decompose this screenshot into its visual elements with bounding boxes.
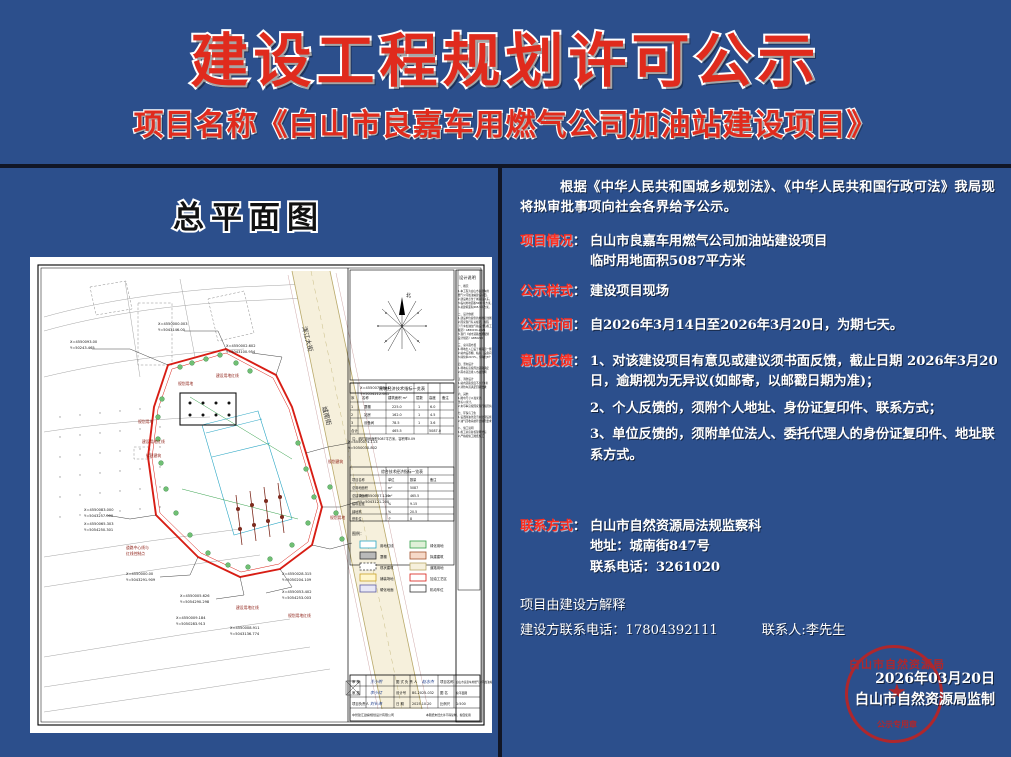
feedback-item-3: 3、单位反馈的，须附单位法人、委托代理人的身份证复印件、地址联系方式。 — [590, 425, 1006, 466]
svg-text:465.5: 465.5 — [410, 494, 419, 498]
svg-text:停车位: 停车位 — [352, 516, 362, 521]
field-value-notice-format: 建设项目现场 — [590, 282, 1006, 302]
svg-text:项目名称: 项目名称 — [352, 477, 366, 482]
svg-text:本图纸未经允许不得复制、擅自使用: 本图纸未经允许不得复制、擅自使用 — [426, 713, 471, 717]
field-colon-1: ： — [573, 282, 590, 302]
svg-text:罩棚: 罩棚 — [364, 404, 371, 409]
svg-text:拟建建筑: 拟建建筑 — [430, 554, 444, 559]
svg-text:铺装场地: 铺装场地 — [380, 576, 394, 581]
svg-text:建设用地红线: 建设用地红线 — [216, 373, 239, 378]
svg-text:Y=5050204.109: Y=5050204.109 — [282, 578, 312, 582]
svg-text:1: 1 — [351, 405, 353, 409]
svg-text:X=4550093.00: X=4550093.00 — [70, 340, 98, 344]
svg-text:BS-2025-032: BS-2025-032 — [412, 691, 434, 695]
svg-text:合计: 合计 — [351, 428, 358, 433]
svg-text:Y=5043146.00: Y=5043146.00 — [158, 328, 186, 332]
feedback-item-1: 1、对该建设项目有意见或建议须书面反馈，截止日期 2026年3月20日，逾期视为… — [590, 352, 1006, 393]
svg-text:五、消防设计: 五、消防设计 — [458, 377, 474, 381]
field-colon-3: ： — [573, 352, 590, 466]
svg-text:2.建设地点位于城南街以东。: 2.建设地点位于城南街以东。 — [458, 297, 492, 301]
project-situation-line-1: 白山市良嘉车用燃气公司加油站建设项目 — [590, 232, 1006, 252]
field-value-feedback: 1、对该建设项目有意见或建议须书面反馈，截止日期 2026年3月20日，逾期视为… — [590, 352, 1006, 466]
field-value-project-situation: 白山市良嘉车用燃气公司加油站建设项目 临时用地面积5087平方米 — [590, 232, 1006, 273]
svg-text:20.5: 20.5 — [410, 510, 417, 514]
explain-note: 项目由建设方解释 — [520, 596, 1006, 616]
svg-text:1:500: 1:500 — [456, 702, 466, 706]
svg-text:白山市良嘉车用燃气公司加油站建设项目: 白山市良嘉车用燃气公司加油站建设项目 — [456, 680, 492, 684]
svg-text:X=4550000.00: X=4550000.00 — [126, 572, 154, 576]
svg-text:八、施工说明: 八、施工说明 — [458, 426, 474, 430]
issuer-block: 2026年03月20日 白山市自然资源局监制 — [855, 669, 995, 711]
svg-text:备注: 备注 — [442, 395, 449, 400]
svg-text:4.5: 4.5 — [430, 413, 435, 417]
field-notice-format: 公示样式 ： 建设项目现场 — [520, 282, 1006, 302]
svg-text:李小红: 李小红 — [370, 690, 383, 695]
svg-text:备注: 备注 — [430, 477, 437, 482]
svg-text:审 核: 审 核 — [352, 679, 360, 684]
svg-text:规范》GB50156-2021: 规范》GB50156-2021 — [458, 328, 486, 332]
cad-drawing-svg: 浑江大街 城南街 — [30, 257, 492, 733]
svg-text:规划用地红线: 规划用地红线 — [288, 613, 311, 618]
svg-text:硬化地面: 硬化地面 — [380, 587, 394, 592]
contact-address: 地址：城南街847号 — [590, 537, 1006, 557]
svg-text:m²: m² — [388, 494, 393, 498]
svg-text:规划用地: 规划用地 — [178, 381, 193, 386]
svg-text:红线控制点: 红线控制点 — [126, 551, 145, 556]
svg-text:X=4550002.602: X=4550002.602 — [226, 344, 255, 348]
feedback-item-2: 2、个人反馈的，须附个人地址、身份证复印件、联系方式； — [590, 399, 1006, 419]
svg-text:2.严格按施工图纸施工: 2.严格按施工图纸施工 — [458, 434, 484, 438]
svg-text:道路用地: 道路用地 — [430, 565, 444, 570]
svg-text:二、设计依据: 二、设计依据 — [458, 312, 474, 316]
svg-text:3.临时用地面积5087平方米。: 3.临时用地面积5087平方米。 — [458, 301, 492, 305]
svg-text:建筑面积 m²: 建筑面积 m² — [388, 395, 408, 400]
svg-text:X=4550000.003: X=4550000.003 — [158, 322, 187, 326]
svg-text:X=4550083.000: X=4550083.000 — [84, 508, 114, 512]
svg-text:X=4550009.184: X=4550009.184 — [176, 616, 206, 620]
svg-text:总用地面积: 总用地面积 — [352, 485, 369, 490]
svg-text:1.场地出入口设于城南街一侧: 1.场地出入口设于城南街一侧 — [458, 347, 492, 351]
svg-text:赵志杰: 赵志杰 — [422, 679, 435, 684]
svg-text:1: 1 — [418, 421, 420, 425]
svg-text:总建筑面积: 总建筑面积 — [352, 493, 369, 498]
issuer-name: 白山市自然资源局监制 — [855, 690, 995, 711]
contact-person-label: 联系人: — [762, 623, 806, 638]
svg-text:设备间: 设备间 — [364, 420, 375, 425]
svg-text:图例：: 图例： — [352, 530, 364, 536]
svg-text:规划建筑: 规划建筑 — [328, 459, 343, 464]
svg-text:总平面图: 总平面图 — [456, 691, 467, 695]
svg-text:规划用地: 规划用地 — [138, 419, 153, 424]
svg-text:4.总建筑面积465.5平方米。: 4.总建筑面积465.5平方米。 — [458, 305, 491, 309]
svg-text:3: 3 — [351, 421, 353, 425]
svg-text:设计号: 设计号 — [396, 690, 407, 695]
svg-text:道路中心线与: 道路中心线与 — [126, 545, 149, 550]
svg-text:高度: 高度 — [429, 395, 436, 400]
svg-text:Y=5050030.802: Y=5050030.802 — [348, 446, 377, 450]
svg-text:X=4550065.303: X=4550065.303 — [84, 522, 113, 526]
svg-text:X=4550008.911: X=4550008.911 — [230, 626, 259, 630]
site-plan-drawing: 浑江大街 城南街 — [30, 257, 492, 733]
svg-text:名称: 名称 — [362, 395, 369, 400]
svg-text:七、环保与卫生: 七、环保与卫生 — [458, 411, 477, 415]
svg-text:1.场地标高按周边道路确定: 1.场地标高按周边道路确定 — [458, 366, 489, 370]
notice-format-line-1: 建设项目现场 — [590, 282, 1006, 302]
field-label-contact: 联系方式 — [520, 517, 573, 578]
main-title: 建设工程规划许可公示 — [0, 14, 1011, 98]
svg-text:162.0: 162.0 — [392, 413, 402, 417]
svg-text:坐标以米计。: 坐标以米计。 — [458, 400, 474, 404]
svg-text:%: % — [388, 502, 391, 506]
svg-text:三、总平面布置: 三、总平面布置 — [458, 343, 477, 347]
field-project-situation: 项目情况 ： 白山市良嘉车用燃气公司加油站建设项目 临时用地面积5087平方米 — [520, 232, 1006, 273]
contact-person-value: 李先生 — [806, 623, 846, 638]
svg-text:机动车位: 机动车位 — [430, 587, 444, 592]
field-value-contact: 白山市自然资源局法规监察科 地址：城南街847号 联系电话：3261020 — [590, 517, 1006, 578]
plan-title: 总平面图 — [0, 192, 498, 237]
svg-text:绿地率: 绿地率 — [352, 509, 362, 514]
field-label-notice-format: 公示样式 — [520, 282, 573, 302]
field-label-project-situation: 项目情况 — [520, 232, 573, 273]
svg-text:Y=5043291.909: Y=5043291.909 — [126, 578, 156, 582]
svg-text:2.油气回收系统符合规范要求: 2.油气回收系统符合规范要求 — [458, 419, 492, 423]
builder-phone: 建设方联系电话：17804392111 — [520, 621, 718, 641]
svg-text:Y=5043136.774: Y=5043136.774 — [230, 632, 260, 636]
svg-text:绿化用地: 绿化用地 — [430, 543, 444, 548]
svg-text:Y=5054250.301: Y=5054250.301 — [84, 528, 113, 532]
svg-text:《汽车加油加气站设计与施工: 《汽车加油加气站设计与施工 — [458, 324, 492, 328]
project-subtitle: 项目名称《白山市良嘉车用燃气公司加油站建设项目》 — [0, 100, 1011, 144]
builder-phone-value: 17804392111 — [626, 623, 718, 638]
svg-text:X=4550053.402: X=4550053.402 — [282, 590, 311, 594]
svg-text:2.站内设罩棚、站房、设备间: 2.站内设罩棚、站房、设备间 — [458, 351, 492, 355]
svg-text:审 核: 审 核 — [352, 690, 360, 695]
svg-text:1: 1 — [418, 413, 420, 417]
svg-text:5087.0: 5087.0 — [429, 429, 441, 433]
field-contact: 联系方式 ： 白山市自然资源局法规监察科 地址：城南街847号 联系电话：326… — [520, 517, 1006, 578]
svg-text:建筑密度: 建筑密度 — [352, 501, 366, 506]
svg-text:图 名: 图 名 — [440, 690, 448, 695]
svg-text:2.未尽事宜按国家现行规范执行: 2.未尽事宜按国家现行规范执行 — [458, 404, 492, 408]
svg-text:%: % — [388, 510, 391, 514]
svg-text:比例尺: 比例尺 — [440, 701, 451, 706]
svg-text:项目负责人: 项目负责人 — [352, 701, 370, 706]
svg-text:刘长海: 刘长海 — [370, 701, 383, 706]
svg-text:225.0: 225.0 — [392, 405, 402, 409]
notice-intro: 根据《中华人民共和国城乡规划法》、《中华人民共和国行政可法》我局现将拟审批事项向… — [520, 178, 1000, 219]
svg-text:建设用地红线: 建设用地红线 — [142, 439, 165, 444]
field-notice-period: 公示时间 ： 自2026年3月14日至2026年3月20日，为期七天。 — [520, 316, 1006, 336]
svg-text:1.设置隔油池及污水处理设施: 1.设置隔油池及污水处理设施 — [458, 415, 492, 419]
svg-text:3.绿化率20.5%，停车位8个: 3.绿化率20.5%，停车位8个 — [458, 355, 492, 359]
svg-text:Y=5054253.003: Y=5054253.003 — [282, 596, 311, 600]
contact-person: 联系人:李先生 — [762, 621, 846, 641]
svg-text:X=4550028.315: X=4550028.315 — [282, 572, 311, 576]
field-colon-0: ： — [573, 232, 590, 273]
svg-text:Y=5043100.954: Y=5043100.954 — [226, 350, 256, 354]
svg-text:一、概况: 一、概况 — [458, 284, 469, 288]
svg-text:规划用地: 规划用地 — [330, 515, 345, 520]
svg-text:Y=50243.465: Y=50243.465 — [70, 346, 95, 350]
svg-text:建设用地红线: 建设用地红线 — [236, 605, 259, 610]
svg-text:m²: m² — [388, 486, 393, 490]
svg-text:六、其他: 六、其他 — [458, 392, 469, 396]
field-colon-2: ： — [573, 316, 590, 336]
svg-text:1.施工前应复核现场坐标: 1.施工前应复核现场坐标 — [458, 430, 487, 434]
svg-text:9.15: 9.15 — [410, 502, 417, 506]
svg-text:1.图中尺寸以毫米计，: 1.图中尺寸以毫米计， — [458, 396, 484, 400]
svg-text:现状建筑: 现状建筑 — [380, 565, 394, 570]
svg-text:单位: 单位 — [388, 477, 395, 482]
svg-text:1.本工程为白山市良嘉车用: 1.本工程为白山市良嘉车用 — [458, 289, 489, 293]
svg-text:1.建设单位提供的用地红线图: 1.建设单位提供的用地红线图 — [458, 316, 492, 320]
svg-text:1: 1 — [418, 405, 420, 409]
svg-text:2025.10.20: 2025.10.20 — [412, 702, 431, 706]
svg-text:Y=5043257.000: Y=5043257.000 — [84, 514, 114, 518]
svg-text:罩棚: 罩棚 — [380, 554, 387, 559]
poster-header: 建设工程规划许可公示 项目名称《白山市良嘉车用燃气公司加油站建设项目》 — [0, 0, 1011, 165]
svg-text:王小明: 王小明 — [370, 679, 383, 684]
svg-text:项目名称: 项目名称 — [440, 679, 454, 684]
svg-text:5087: 5087 — [410, 486, 418, 490]
svg-text:465.5: 465.5 — [392, 429, 402, 433]
field-value-notice-period: 自2026年3月14日至2026年3月20日，为期七天。 — [590, 316, 1006, 336]
svg-text:图 式 负 责 人: 图 式 负 责 人 — [396, 679, 418, 684]
svg-text:78.5: 78.5 — [392, 421, 400, 425]
svg-text:2.国家现行有关规范、规程: 2.国家现行有关规范、规程 — [458, 320, 489, 324]
svg-text:用地红线: 用地红线 — [380, 543, 394, 548]
svg-text:北: 北 — [406, 292, 411, 299]
svg-text:层数: 层数 — [416, 395, 423, 400]
contact-phone: 联系电话：3261020 — [590, 558, 1006, 578]
svg-text:8: 8 — [410, 517, 412, 521]
svg-text:四、竖向设计: 四、竖向设计 — [458, 362, 474, 366]
notice-period-line-1: 自2026年3月14日至2026年3月20日，为期七天。 — [590, 316, 1006, 336]
field-feedback: 意见反馈 ： 1、对该建设项目有意见或建议须书面反馈，截止日期 2026年3月2… — [520, 352, 1006, 466]
svg-text:3.6: 3.6 — [430, 421, 435, 425]
svg-text:设计说明: 设计说明 — [459, 274, 476, 281]
svg-text:3.现行《城市道路交通规划: 3.现行《城市道路交通规划 — [458, 332, 489, 336]
svg-text:燃气公司加油站建设项目。: 燃气公司加油站建设项目。 — [458, 293, 489, 297]
builder-phone-label: 建设方联系电话： — [520, 623, 626, 638]
svg-text:加油工艺区: 加油工艺区 — [430, 576, 448, 581]
svg-text:X=4550005.626: X=4550005.626 — [180, 594, 210, 598]
field-colon-4: ： — [573, 517, 590, 578]
svg-text:综合技术经济指标一览表: 综合技术经济指标一览表 — [381, 469, 423, 474]
svg-text:Y=5054290.298: Y=5054290.298 — [180, 600, 210, 604]
svg-text:站房: 站房 — [364, 412, 371, 417]
left-panel: 总平面图 — [0, 168, 498, 757]
issue-date: 2026年03月20日 — [855, 669, 995, 690]
svg-text:Y=5050283.913: Y=5050283.913 — [176, 622, 205, 626]
svg-text:设计规范》GB50220: 设计规范》GB50220 — [458, 336, 483, 340]
svg-text:拟建建筑: 拟建建筑 — [146, 453, 161, 458]
builder-contact-row: 建设方联系电话：17804392111 联系人:李先生 — [520, 621, 1006, 641]
field-label-feedback: 意见反馈 — [520, 352, 573, 466]
project-situation-line-2: 临时用地面积5087平方米 — [590, 252, 1006, 272]
field-label-notice-period: 公示时间 — [520, 316, 573, 336]
svg-text:2.消防车道满足回转要求: 2.消防车道满足回转要求 — [458, 385, 487, 389]
svg-text:2: 2 — [351, 413, 353, 417]
svg-text:中智建汇勘察规划设计有限公司: 中智建汇勘察规划设计有限公司 — [352, 712, 394, 717]
svg-text:2.雨水就近排入市政管网: 2.雨水就近排入市政管网 — [458, 370, 487, 374]
svg-text:数量: 数量 — [410, 477, 417, 482]
svg-text:6.0: 6.0 — [430, 405, 435, 409]
svg-text:1.站内道路宽度不小于4米: 1.站内道路宽度不小于4米 — [458, 381, 488, 385]
announcement-poster: 建设工程规划许可公示 项目名称《白山市良嘉车用燃气公司加油站建设项目》 总平面图 — [0, 0, 1011, 757]
contact-department: 白山市自然资源局法规监察科 — [590, 517, 1006, 537]
svg-text:日 期: 日 期 — [396, 701, 404, 706]
svg-text:注：临时用地面积5087平方米，容积率0.09: 注：临时用地面积5087平方米，容积率0.09 — [352, 436, 415, 441]
